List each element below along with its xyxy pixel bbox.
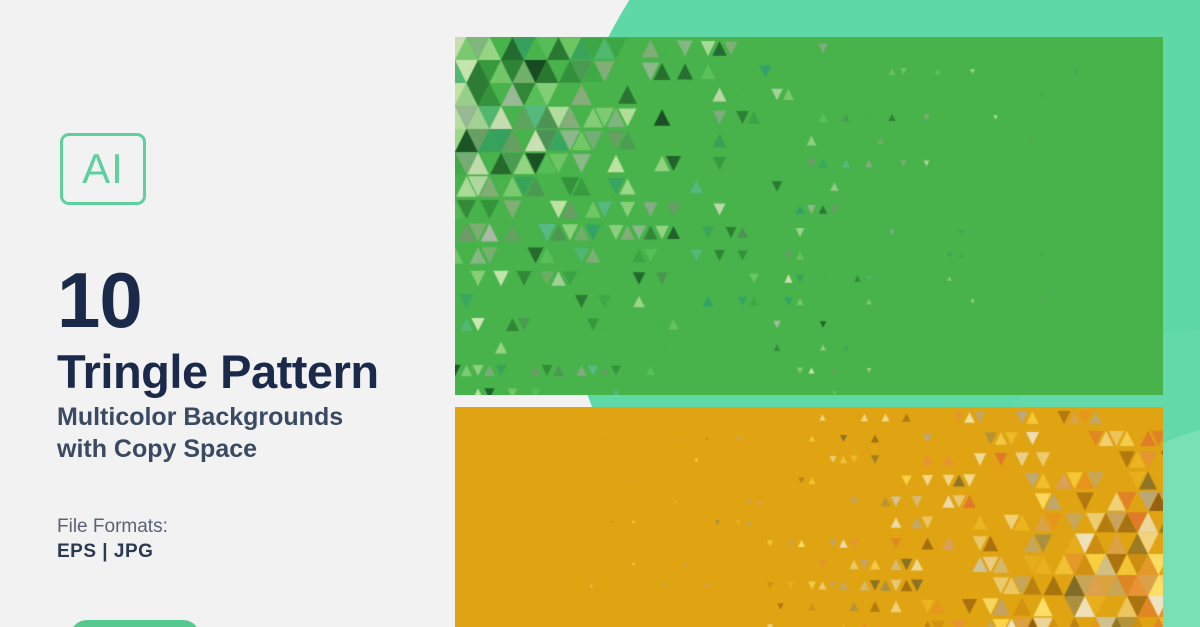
subtitle-line-2: with Copy Space: [57, 434, 343, 466]
item-count: 10: [57, 261, 142, 339]
orange-triangle-banner: [455, 407, 1163, 627]
page-subtitle: Multicolor Backgrounds with Copy Space: [57, 402, 343, 465]
subtitle-line-1: Multicolor Backgrounds: [57, 402, 343, 434]
poster-canvas: AI 10 Tringle Pattern Multicolor Backgro…: [0, 0, 1200, 627]
info-panel: AI 10 Tringle Pattern Multicolor Backgro…: [0, 0, 455, 627]
file-formats-label: File Formats:: [57, 517, 168, 536]
green-triangle-pattern: [455, 37, 1163, 395]
page-title: Tringle Pattern: [57, 348, 379, 395]
green-triangle-banner: [455, 37, 1163, 395]
adobe-illustrator-badge: AI: [60, 133, 146, 205]
badge-label: AI: [82, 148, 124, 190]
file-formats-value: EPS | JPG: [57, 542, 153, 561]
cta-button[interactable]: [70, 620, 200, 627]
orange-triangle-pattern: [455, 407, 1163, 627]
